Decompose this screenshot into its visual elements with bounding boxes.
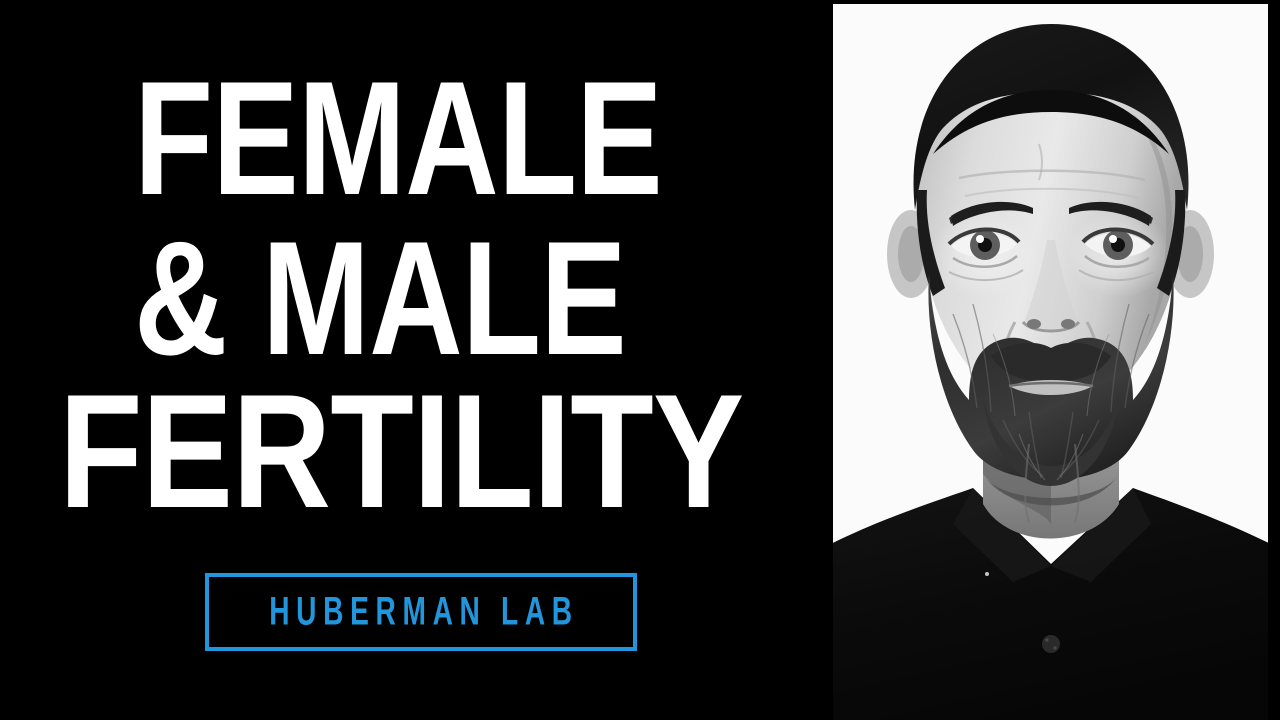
title-line-2: & MALE	[134, 218, 626, 380]
portrait-illustration	[833, 4, 1268, 720]
huberman-lab-logo-text: HUBERMAN LAB	[263, 592, 579, 632]
title-line-1: FEMALE	[134, 58, 662, 220]
huberman-lab-logo: HUBERMAN LAB	[205, 573, 637, 651]
title-line-3: FERTILITY	[59, 371, 743, 533]
host-portrait-photo	[833, 4, 1268, 720]
video-thumbnail: FEMALE & MALE FERTILITY HUBERMAN LAB	[0, 0, 1280, 720]
